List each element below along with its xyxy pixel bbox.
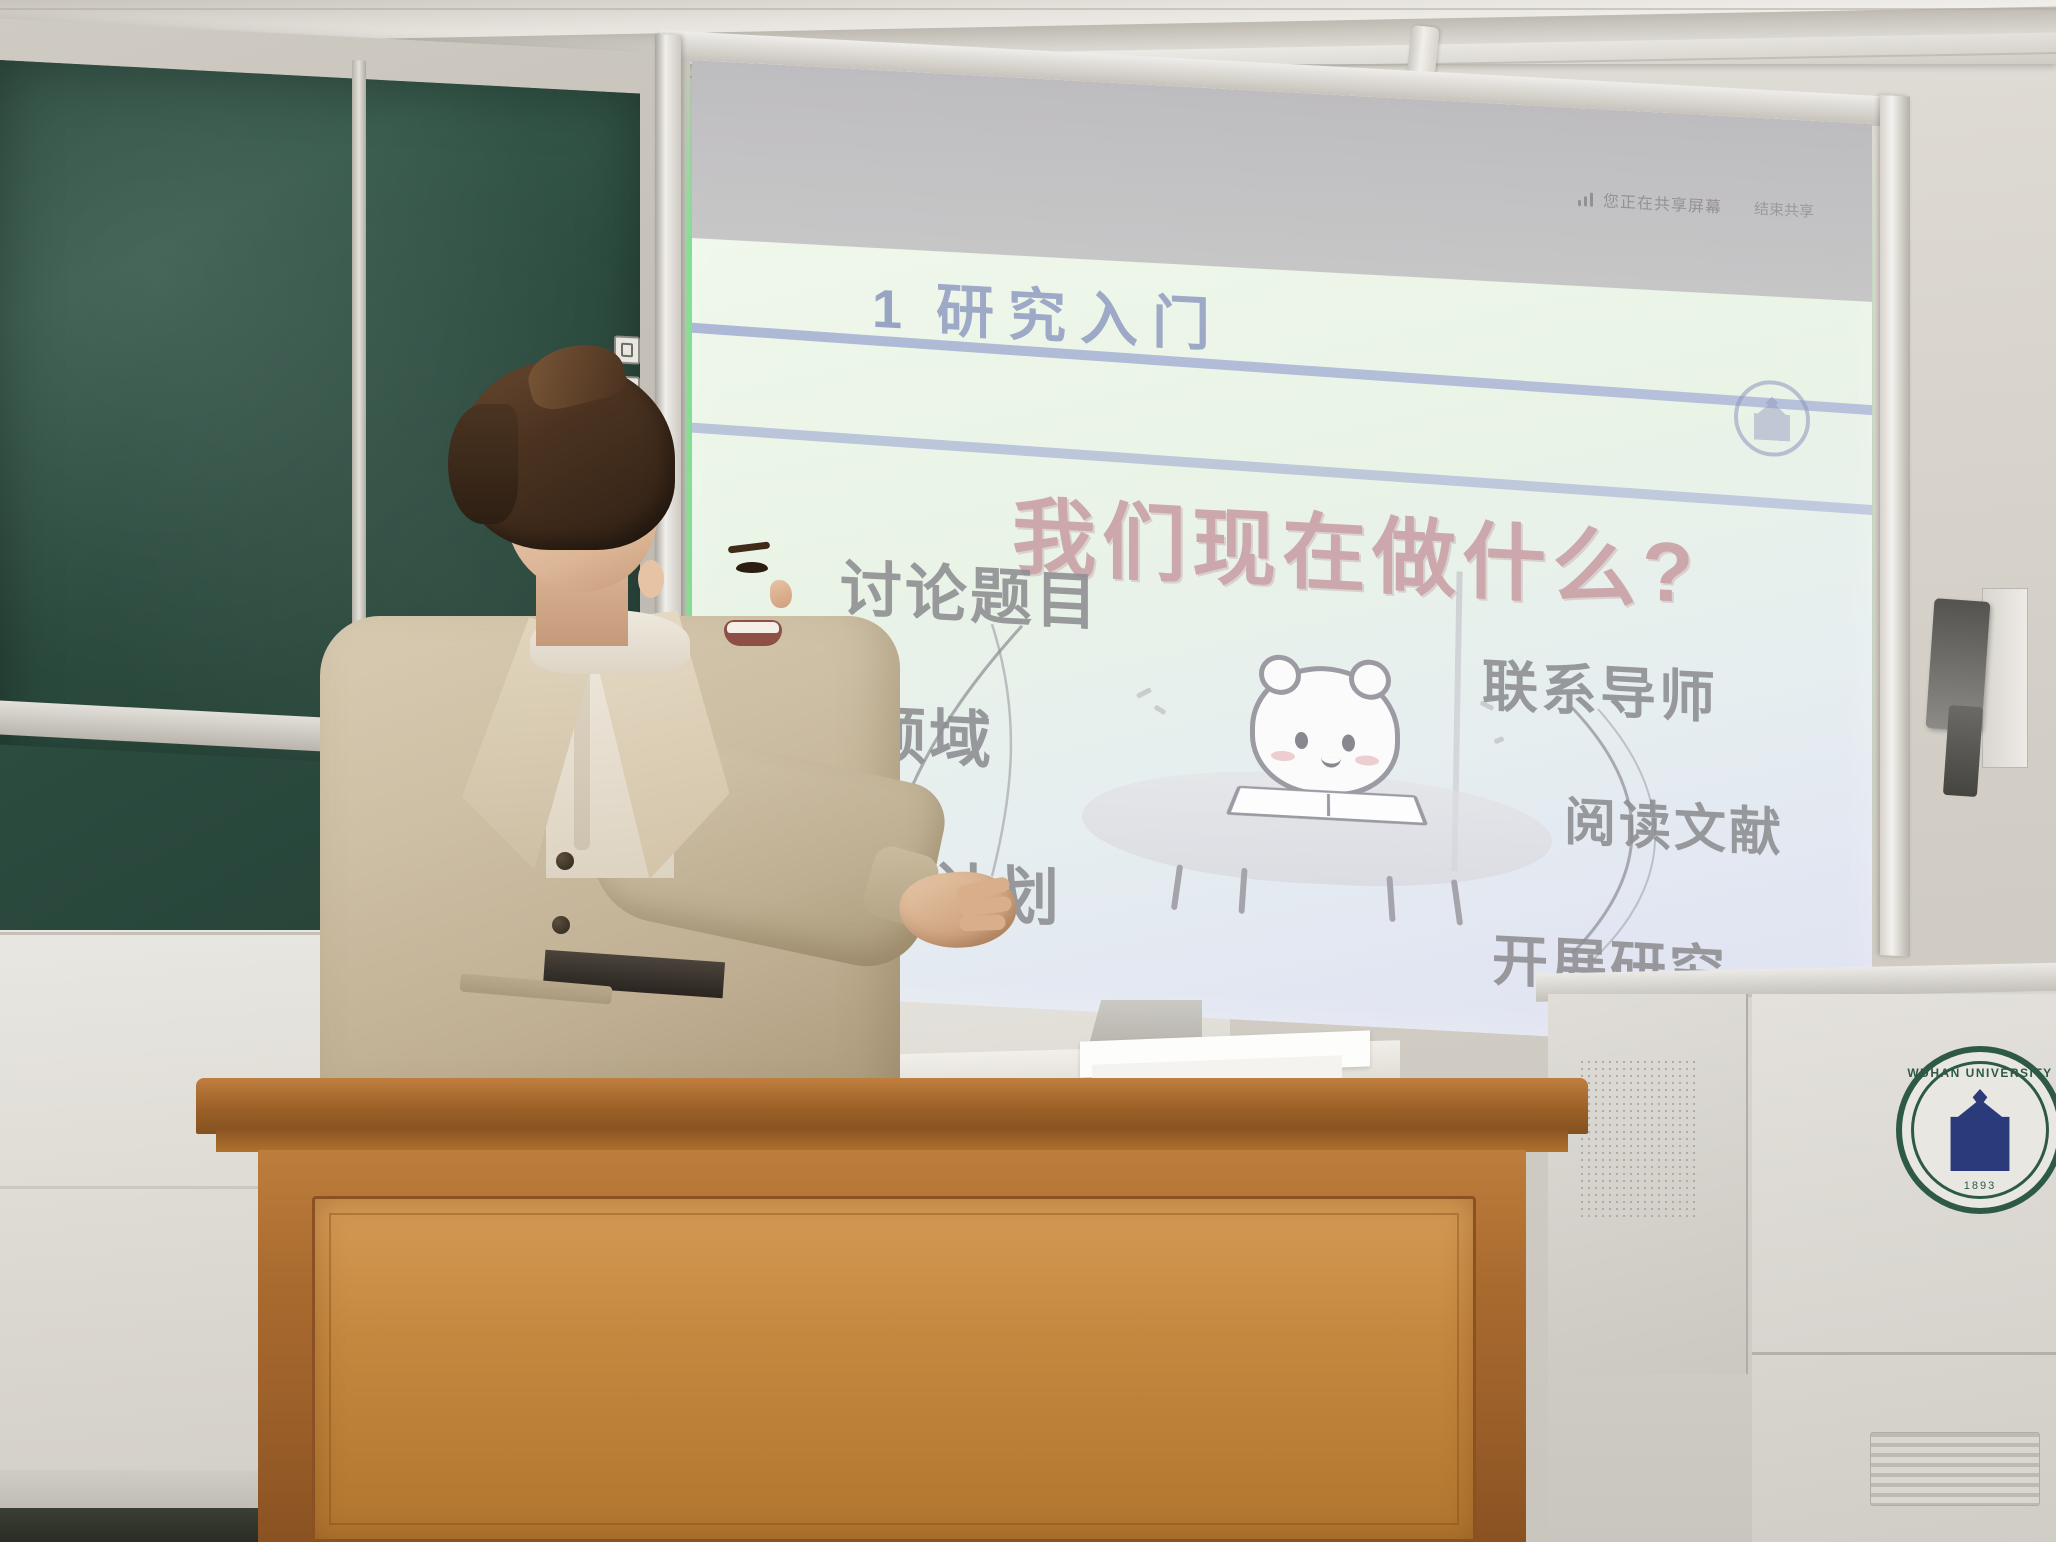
mindmap-label-read-literature: 阅读文献 [1564,779,1784,866]
end-share-label: 结束共享 [1754,198,1814,222]
ceiling-seam [0,8,2056,10]
badge-top-text: WUHAN UNIVERSITY [1902,1066,2056,1080]
coat-button-2 [552,916,570,934]
signal-bars-icon [1578,190,1593,207]
nose [770,580,792,608]
badge-year: 1893 [1902,1180,2056,1192]
coat-button [556,852,574,870]
speaker-grille [1580,1060,1700,1220]
ear [638,560,664,598]
podium-lip [216,1128,1568,1152]
section-number: 1 [872,278,904,342]
bear-reading-at-table-icon [1082,641,1552,926]
av-cabinet-seam [1752,1352,2056,1355]
ventilation-grille [1870,1432,2040,1506]
eye [736,562,768,573]
wall-mount-bracket-lower [1943,705,1983,797]
wuhan-university-badge: WUHAN UNIVERSITY 1893 [1896,1046,2056,1214]
eyebrow [728,541,771,553]
screen-frame-right [1880,95,1910,957]
podium-front-panel [312,1196,1476,1542]
mouth [724,620,782,646]
bear-head [1250,662,1400,800]
presenter [360,360,1040,1120]
podium-top [196,1078,1588,1134]
lecture-scene: 您正在共享屏幕 结束共享 1 研究入门 我们现在做什么? 讨论题目 明确领域 制… [0,0,2056,1542]
